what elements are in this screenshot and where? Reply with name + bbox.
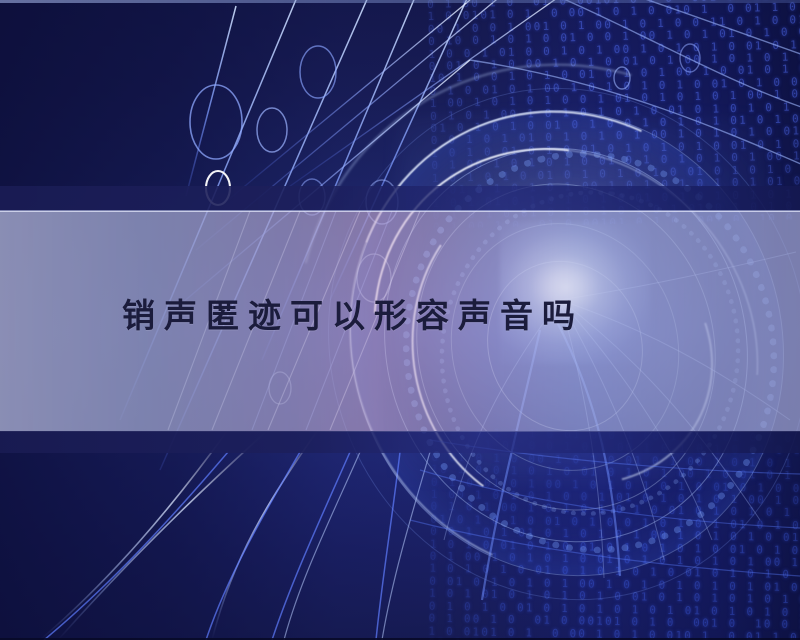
- band-dark-top: [0, 186, 800, 211]
- band-dark-bottom: [0, 431, 800, 453]
- slide-canvas: 0 1 00 1 0 01 0 00101 0 1 0 001 0 10 0 1…: [0, 0, 800, 640]
- top-hairline: [0, 0, 800, 3]
- page-title: 销声匿迹可以形容声音吗: [122, 296, 584, 336]
